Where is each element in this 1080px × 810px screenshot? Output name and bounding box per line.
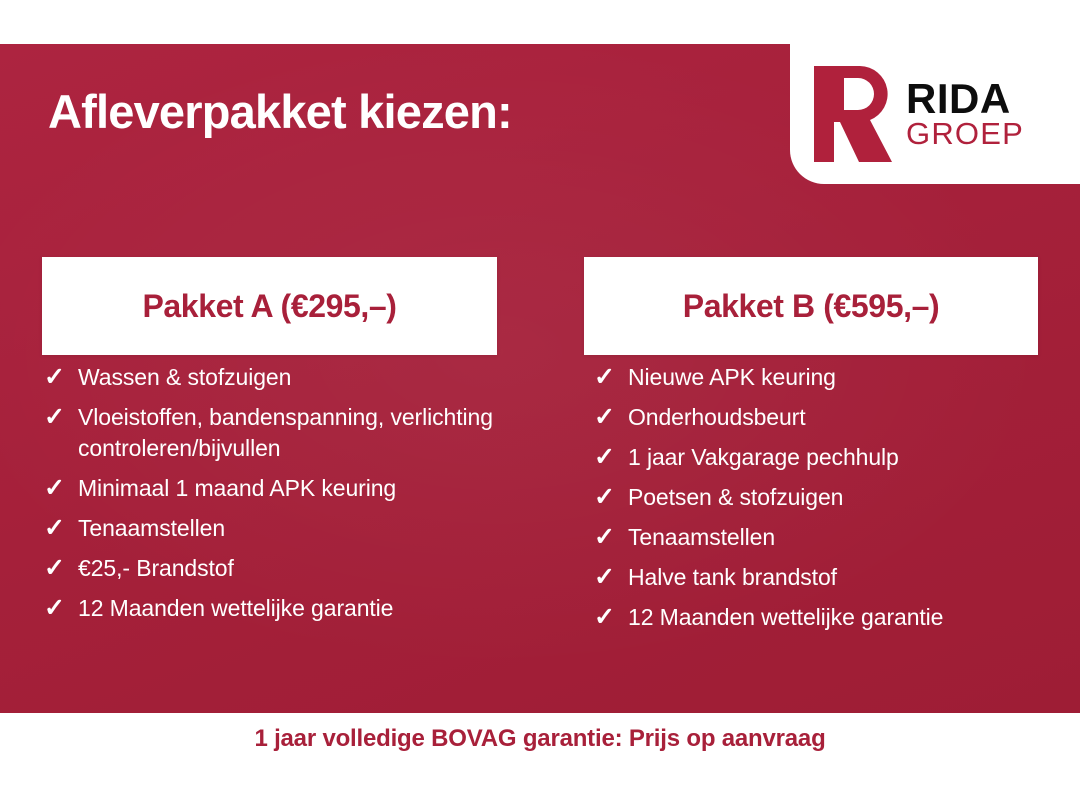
feature-item: ✓Nieuwe APK keuring xyxy=(592,362,1062,393)
feature-item: ✓Tenaamstellen xyxy=(592,522,1062,553)
package-b-title: Pakket B (€595,–) xyxy=(683,288,939,325)
feature-item: ✓1 jaar Vakgarage pechhulp xyxy=(592,442,1062,473)
feature-label: Tenaamstellen xyxy=(78,513,225,544)
check-icon: ✓ xyxy=(42,362,78,393)
check-icon: ✓ xyxy=(42,473,78,504)
feature-label: Halve tank brandstof xyxy=(628,562,837,593)
feature-item: ✓Wassen & stofzuigen xyxy=(42,362,512,393)
rida-r-monogram-icon xyxy=(804,62,896,166)
brand-name-primary: RIDA xyxy=(906,79,1024,119)
feature-label: €25,- Brandstof xyxy=(78,553,234,584)
check-icon: ✓ xyxy=(592,482,628,513)
feature-label: Nieuwe APK keuring xyxy=(628,362,836,393)
footer-note: 1 jaar volledige BOVAG garantie: Prijs o… xyxy=(0,725,1080,753)
check-icon: ✓ xyxy=(42,553,78,584)
feature-label: Onderhoudsbeurt xyxy=(628,402,806,433)
brand-name-secondary: GROEP xyxy=(906,119,1024,148)
page-title: Afleverpakket kiezen: xyxy=(48,86,512,138)
feature-item: ✓12 Maanden wettelijke garantie xyxy=(42,593,512,624)
package-a-title: Pakket A (€295,–) xyxy=(142,288,396,325)
package-a-header[interactable]: Pakket A (€295,–) xyxy=(42,257,497,355)
promo-card: Afleverpakket kiezen: RIDA GROEP Pakket … xyxy=(0,0,1080,810)
feature-item: ✓Tenaamstellen xyxy=(42,513,512,544)
footer-bar: 1 jaar volledige BOVAG garantie: Prijs o… xyxy=(0,713,1080,810)
check-icon: ✓ xyxy=(42,593,78,624)
check-icon: ✓ xyxy=(592,562,628,593)
feature-label: 12 Maanden wettelijke garantie xyxy=(628,602,943,633)
feature-item: ✓Halve tank brandstof xyxy=(592,562,1062,593)
feature-item: ✓12 Maanden wettelijke garantie xyxy=(592,602,1062,633)
check-icon: ✓ xyxy=(42,513,78,544)
feature-label: Wassen & stofzuigen xyxy=(78,362,291,393)
check-icon: ✓ xyxy=(42,402,78,433)
feature-item: ✓Vloeistoffen, bandenspanning, verlichti… xyxy=(42,402,512,464)
check-icon: ✓ xyxy=(592,442,628,473)
feature-item: ✓Minimaal 1 maand APK keuring xyxy=(42,473,512,504)
package-b-feature-list: ✓Nieuwe APK keuring✓Onderhoudsbeurt✓1 ja… xyxy=(592,362,1062,642)
feature-label: Tenaamstellen xyxy=(628,522,775,553)
feature-item: ✓Poetsen & stofzuigen xyxy=(592,482,1062,513)
feature-item: ✓€25,- Brandstof xyxy=(42,553,512,584)
package-a-feature-list: ✓Wassen & stofzuigen✓Vloeistoffen, bande… xyxy=(42,362,512,633)
feature-label: Vloeistoffen, bandenspanning, verlichtin… xyxy=(78,402,512,464)
package-b-header[interactable]: Pakket B (€595,–) xyxy=(584,257,1038,355)
check-icon: ✓ xyxy=(592,602,628,633)
feature-label: Minimaal 1 maand APK keuring xyxy=(78,473,396,504)
feature-label: Poetsen & stofzuigen xyxy=(628,482,843,513)
feature-label: 1 jaar Vakgarage pechhulp xyxy=(628,442,899,473)
brand-logo: RIDA GROEP xyxy=(790,44,1080,184)
check-icon: ✓ xyxy=(592,402,628,433)
check-icon: ✓ xyxy=(592,362,628,393)
brand-wordmark: RIDA GROEP xyxy=(906,79,1024,148)
check-icon: ✓ xyxy=(592,522,628,553)
feature-label: 12 Maanden wettelijke garantie xyxy=(78,593,393,624)
feature-item: ✓Onderhoudsbeurt xyxy=(592,402,1062,433)
